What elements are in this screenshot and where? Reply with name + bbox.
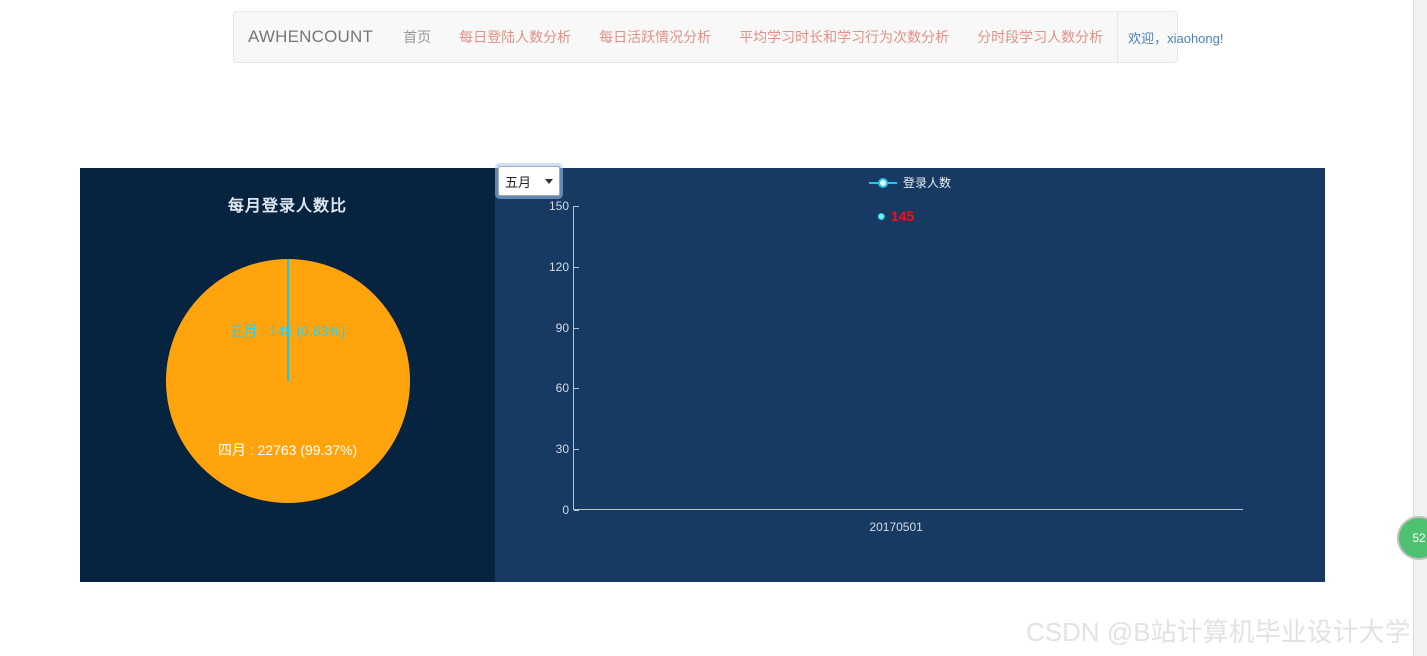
chevron-down-icon [545, 179, 553, 184]
data-point-label: 145 [891, 208, 914, 224]
month-select-value: 五月 [505, 172, 545, 191]
pie-slice-may[interactable] [287, 259, 289, 381]
y-axis-tick-60: 60 [505, 381, 579, 395]
dashboard-container: 每月登录人数比 五月 : 145 (0.63%) 四月 : 22763 (99.… [80, 168, 1325, 582]
floating-badge-button[interactable]: 52 [1397, 516, 1427, 560]
watermark-text: CSDN @B站计算机毕业设计大学 [1026, 612, 1411, 649]
x-axis-line [573, 509, 1243, 510]
navbar-menu: 首页 每日登陆人数分析 每日活跃情况分析 平均学习时长和学习行为次数分析 分时段… [389, 12, 1117, 62]
y-axis-tick-0: 0 [505, 503, 579, 517]
nav-item-avg-study[interactable]: 平均学习时长和学习行为次数分析 [725, 12, 963, 62]
data-point-20170501[interactable]: 145 [878, 208, 914, 224]
month-select[interactable]: 五月 [498, 166, 560, 196]
line-chart-legend: 登录人数 [495, 174, 1325, 191]
page-root: AWHENCOUNT 首页 每日登陆人数分析 每日活跃情况分析 平均学习时长和学… [0, 0, 1427, 656]
y-axis-line [573, 206, 574, 510]
line-chart-plot-area: 0 30 60 90 120 150 145 20170501 [505, 206, 1243, 534]
nav-item-daily-login[interactable]: 每日登陆人数分析 [445, 12, 585, 62]
y-axis-tick-150: 150 [505, 199, 579, 213]
pie-chart-panel: 每月登录人数比 五月 : 145 (0.63%) 四月 : 22763 (99.… [80, 168, 495, 582]
y-axis-tick-120: 120 [505, 260, 579, 274]
pie-chart-figure: 五月 : 145 (0.63%) 四月 : 22763 (99.37%) [166, 259, 410, 503]
pie-chart-title: 每月登录人数比 [80, 192, 495, 216]
legend-marker-icon [869, 177, 897, 189]
data-point-dot-icon [878, 213, 885, 220]
legend-label-login-count[interactable]: 登录人数 [903, 174, 951, 191]
legend-dot-icon [878, 178, 888, 188]
y-axis-tick-90: 90 [505, 321, 579, 335]
y-axis-tick-30: 30 [505, 442, 579, 456]
line-chart-panel: 五月 登录人数 0 30 60 90 120 150 [495, 168, 1325, 582]
navbar-welcome-user[interactable]: 欢迎，xiaohong! [1117, 12, 1239, 62]
navbar-brand[interactable]: AWHENCOUNT [234, 12, 389, 62]
nav-item-home[interactable]: 首页 [389, 12, 445, 62]
main-navbar: AWHENCOUNT 首页 每日登陆人数分析 每日活跃情况分析 平均学习时长和学… [233, 11, 1178, 63]
nav-item-hourly-study[interactable]: 分时段学习人数分析 [963, 12, 1117, 62]
nav-item-daily-active[interactable]: 每日活跃情况分析 [585, 12, 725, 62]
x-axis-tick-20170501: 20170501 [869, 520, 922, 534]
